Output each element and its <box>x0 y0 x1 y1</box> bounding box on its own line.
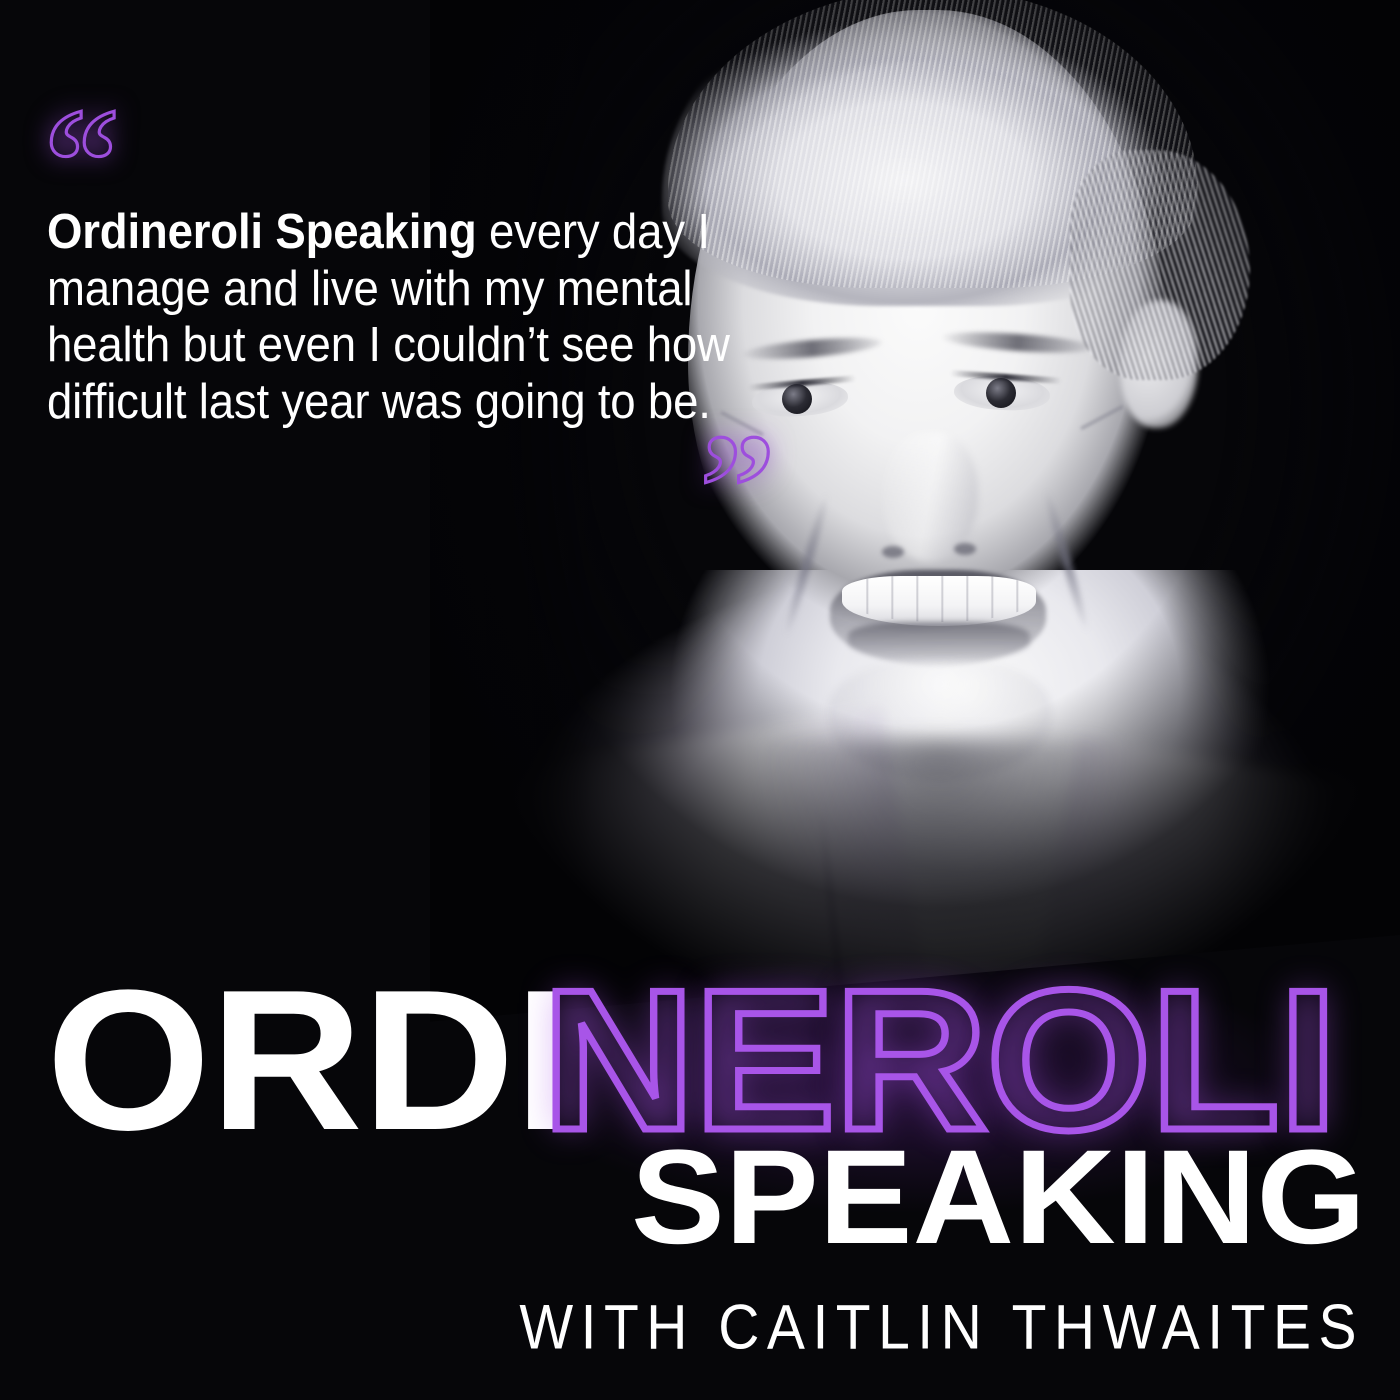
logo-line-speaking: SPEAKING <box>631 1135 1366 1261</box>
portrait-image <box>430 0 1400 1090</box>
logo-host-credit: WITH CAITLIN THWAITES <box>519 1297 1364 1360</box>
quote-text: Ordineroli Speaking every day I manage a… <box>47 204 782 430</box>
logo-word-neroli: NEROLI <box>542 975 1337 1147</box>
logo-word-ordi: ORDI <box>46 975 572 1147</box>
portrait-vignette <box>430 0 1400 1090</box>
podcast-cover-art: “ Ordineroli Speaking every day I manage… <box>0 0 1400 1400</box>
closing-quote-icon: ” <box>700 412 775 562</box>
logo-line-ordineroli: ORDINEROLI <box>46 975 1366 1147</box>
quote-lead-in: Ordineroli Speaking <box>47 205 476 259</box>
